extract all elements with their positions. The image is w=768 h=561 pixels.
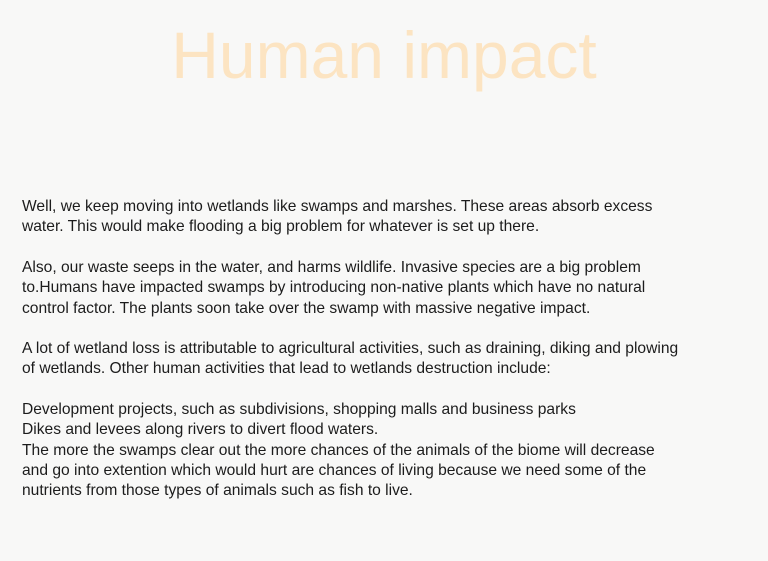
paragraph-line: Dikes and levees along rivers to divert … <box>22 420 754 440</box>
paragraph-line: A lot of wetland loss is attributable to… <box>22 339 754 359</box>
paragraph-line: Development projects, such as subdivisio… <box>22 400 754 420</box>
paragraph-line: control factor. The plants soon take ove… <box>22 299 754 319</box>
paragraph-wetlands-flooding: Well, we keep moving into wetlands like … <box>22 197 754 238</box>
paragraph-line: Well, we keep moving into wetlands like … <box>22 197 754 217</box>
page-title: Human impact <box>0 16 768 94</box>
paragraph-line: and go into extention which would hurt a… <box>22 461 754 481</box>
paragraph-line: The more the swamps clear out the more c… <box>22 441 754 461</box>
paragraph-line: nutrients from those types of animals su… <box>22 481 754 501</box>
slide-body: Well, we keep moving into wetlands like … <box>22 197 754 502</box>
paragraph-line: to.Humans have impacted swamps by introd… <box>22 278 754 298</box>
paragraph-agricultural-loss: A lot of wetland loss is attributable to… <box>22 339 754 380</box>
paragraph-line: water. This would make flooding a big pr… <box>22 217 754 237</box>
paragraph-line: of wetlands. Other human activities that… <box>22 359 754 379</box>
slide-canvas: Human impact Well, we keep moving into w… <box>0 0 768 561</box>
paragraph-line: Also, our waste seeps in the water, and … <box>22 258 754 278</box>
paragraph-waste-invasive-species: Also, our waste seeps in the water, and … <box>22 258 754 319</box>
paragraph-development-and-consequences: Development projects, such as subdivisio… <box>22 400 754 502</box>
